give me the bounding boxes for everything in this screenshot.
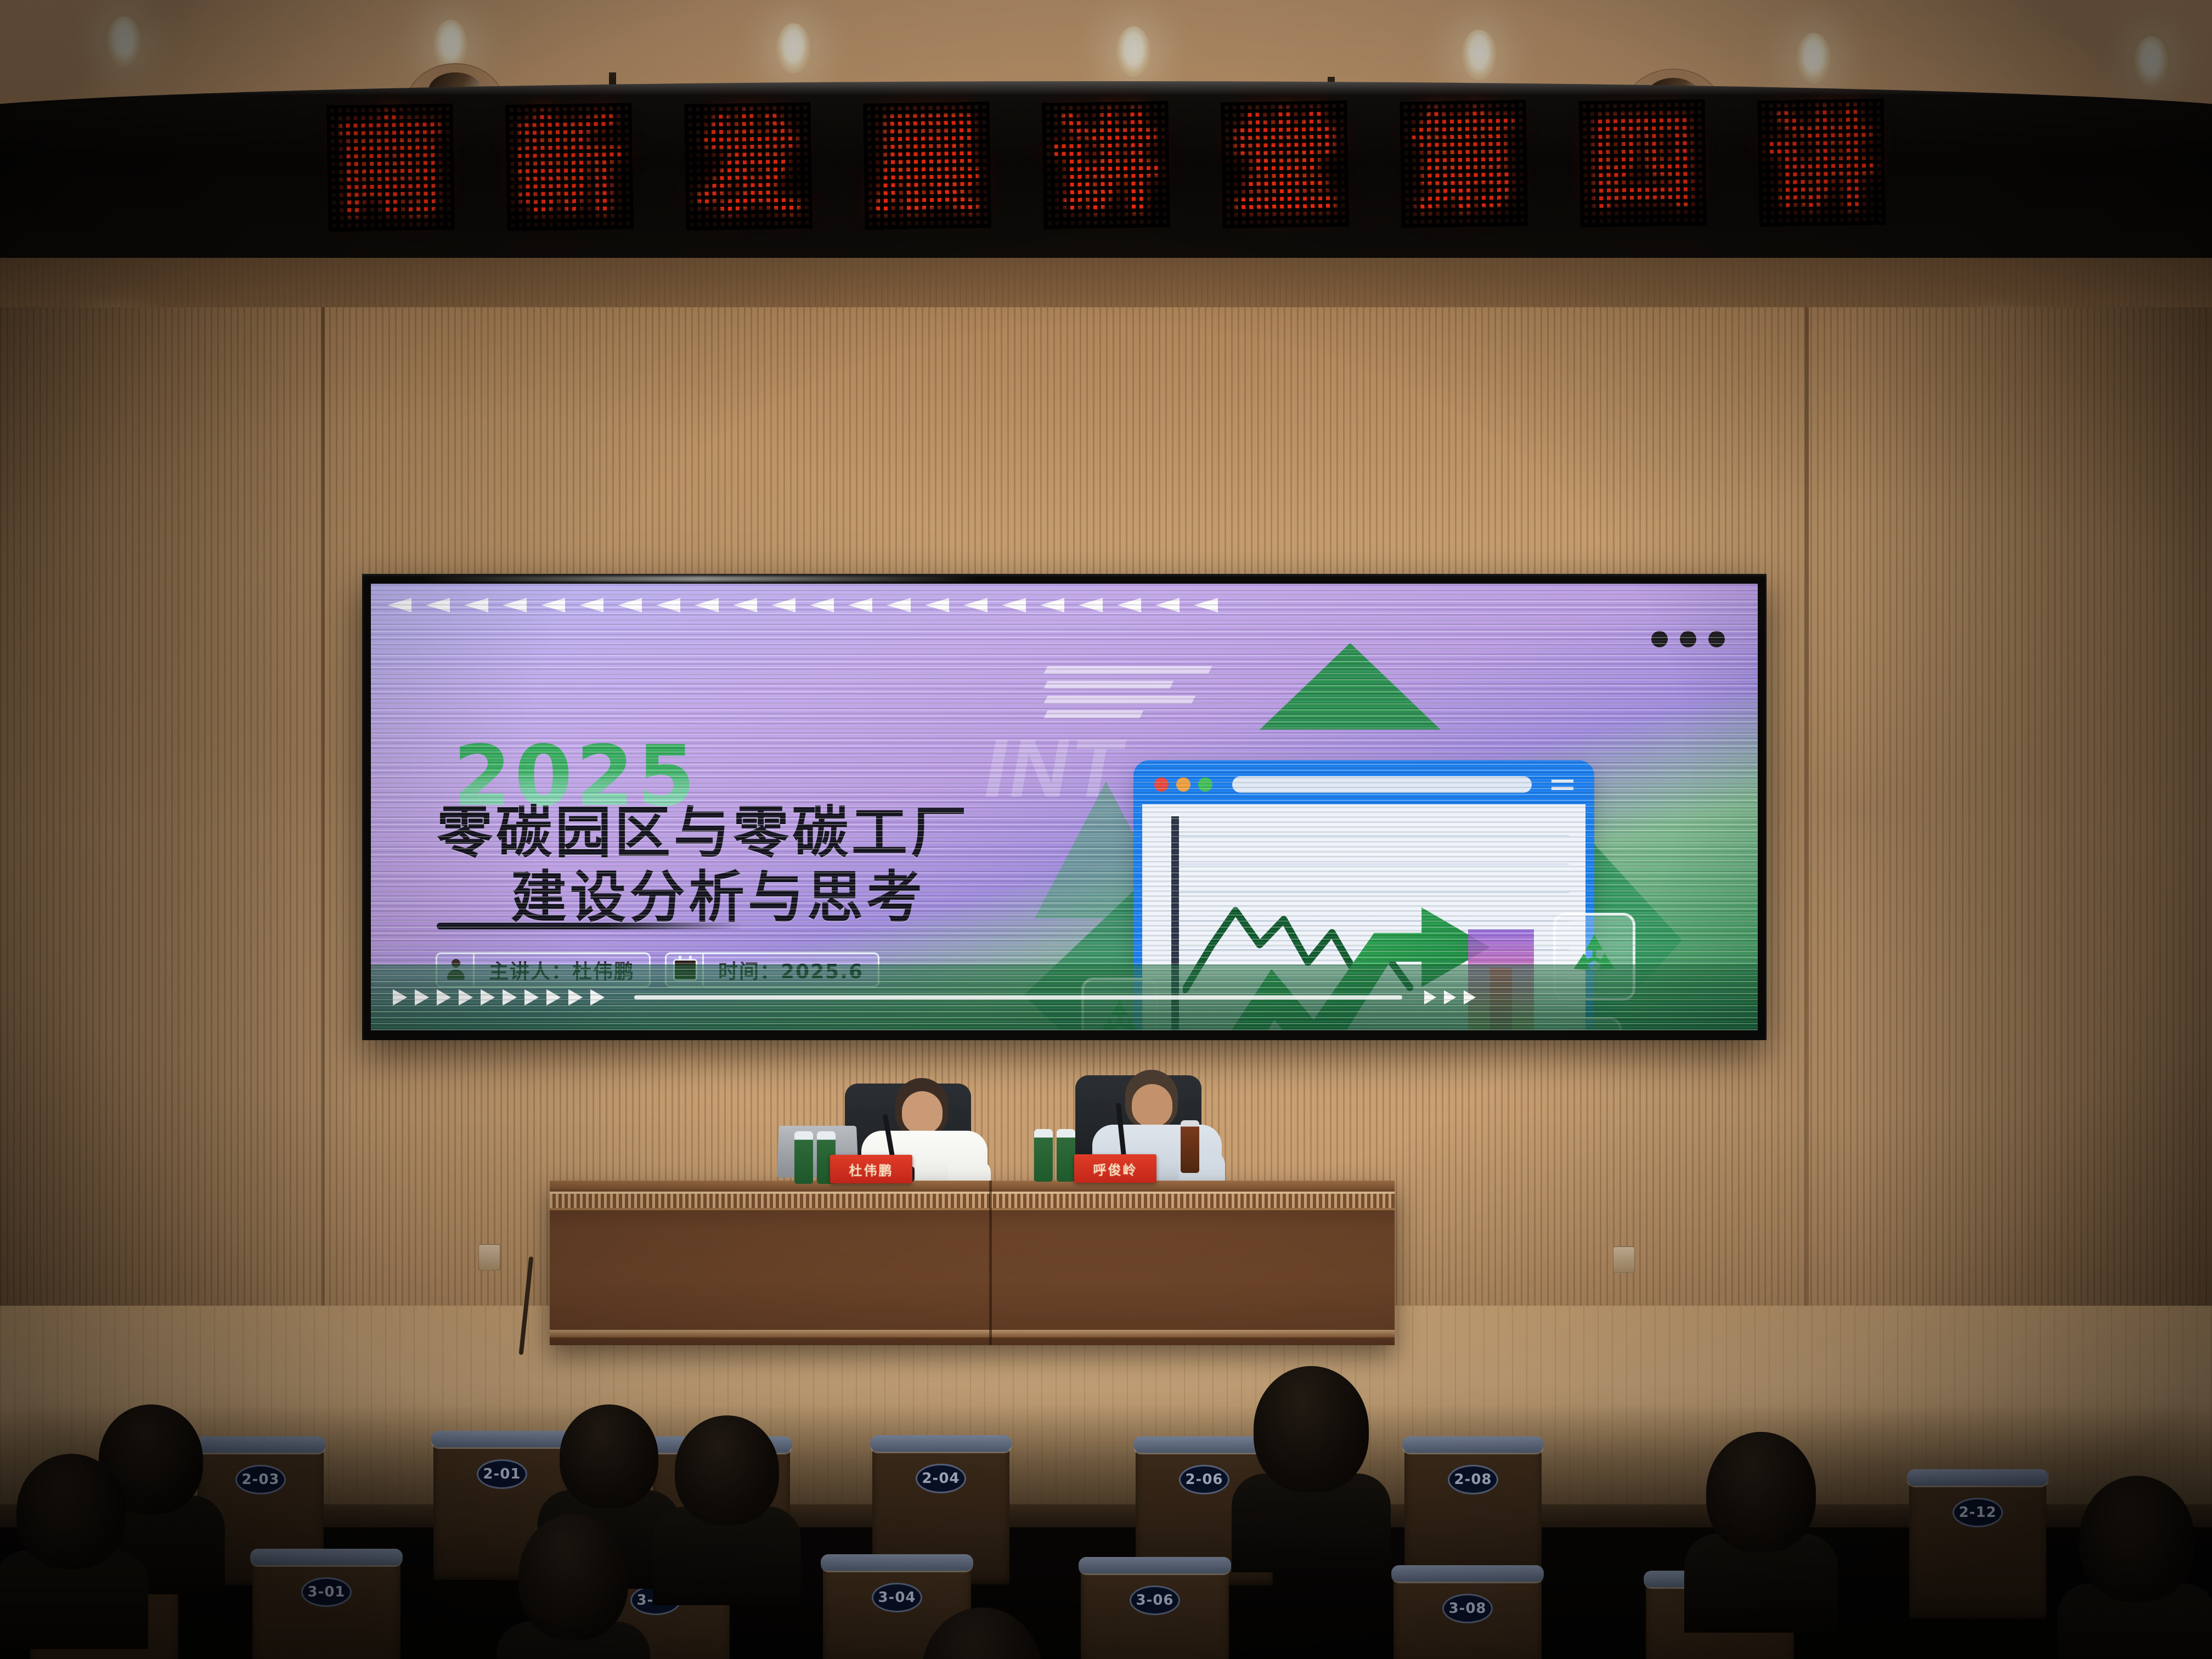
auditorium-photo: 南新发展讲堂第四讲 INT 2025 零碳园区与零碳工厂 建设分析与思考 [0, 0, 2212, 1659]
slide-bottom-strip [371, 964, 1758, 1030]
seat-headrest [1402, 1436, 1544, 1453]
led-char: 南 [326, 104, 455, 232]
seat-number-badge: 2-08 [1448, 1465, 1498, 1494]
auditorium-seat[interactable]: 3-08 [1393, 1577, 1542, 1659]
slide-progress-bar [634, 995, 1402, 1000]
seat-number-badge: 3-06 [1130, 1585, 1180, 1615]
conference-table [550, 1181, 1395, 1345]
seat-number-badge: 2-04 [916, 1464, 966, 1493]
arrow-left-icon [579, 598, 603, 612]
auditorium-seat[interactable]: 3-06 [1081, 1569, 1229, 1659]
arrow-left-icon [925, 598, 949, 612]
audience-head [1706, 1432, 1816, 1553]
seat-number-text: 3-04 [878, 1589, 916, 1606]
led-banner: 南新发展讲堂第四讲 [0, 81, 2212, 279]
seat-headrest [195, 1436, 326, 1453]
audience-head [16, 1454, 126, 1569]
arrow-left-icon [963, 598, 988, 612]
nameplate-right-text: 呼俊岭 [1093, 1159, 1138, 1178]
ceiling-downlight [1116, 26, 1150, 77]
seat-number-text: 2-01 [483, 1466, 521, 1482]
led-char-glyph: 四 [1578, 99, 1707, 228]
seat-number-text: 2-06 [1185, 1471, 1223, 1488]
led-char: 展 [863, 101, 991, 230]
arrow-right-icon [481, 989, 495, 1006]
arrow-right-icon [393, 989, 407, 1006]
browser-address-bar [1232, 776, 1532, 793]
led-char: 新 [505, 103, 634, 232]
led-char-glyph: 南 [326, 104, 455, 232]
seat-number-text: 2-03 [241, 1471, 279, 1488]
slide-top-arrow-strip [371, 591, 1758, 619]
arrow-right-icon [503, 989, 517, 1006]
arrow-left-icon [656, 598, 680, 612]
led-banner-text: 南新发展讲堂第四讲 [0, 81, 2212, 256]
arrow-left-icon [1155, 598, 1180, 612]
arrow-right-icon [590, 989, 605, 1006]
slide-canvas: INT 2025 零碳园区与零碳工厂 建设分析与思考 主讲人：杜伟鹏 [371, 584, 1758, 1030]
led-char-glyph: 讲 [1757, 99, 1886, 227]
wall-seam [1805, 307, 1809, 1399]
arrow-right-icon [524, 989, 539, 1006]
led-char-glyph: 第 [1400, 100, 1528, 228]
arrow-left-icon [1002, 598, 1026, 612]
arrow-left-icon [503, 598, 527, 612]
led-char-glyph: 堂 [1221, 100, 1349, 229]
arrow-left-icon [848, 598, 872, 612]
arrow-left-icon [810, 598, 834, 612]
arrow-right-icon [415, 989, 429, 1006]
seat-number-text: 3-01 [307, 1584, 345, 1600]
ceiling-downlight [1462, 30, 1496, 80]
water-bottle [794, 1131, 813, 1184]
arrow-left-icon [1194, 598, 1218, 612]
led-char-glyph: 展 [863, 101, 991, 230]
seat-number-text: 2-08 [1454, 1471, 1492, 1488]
arrow-right-icon [1424, 990, 1436, 1005]
slide-window-dots [1651, 631, 1725, 647]
seat-number-badge: 3-01 [301, 1577, 352, 1607]
arrow-right-icon [1464, 990, 1476, 1005]
auditorium-seat[interactable]: 3-01 [252, 1561, 400, 1659]
arrow-left-icon [1079, 598, 1103, 612]
audience-head [2079, 1476, 2194, 1602]
led-char: 发 [684, 102, 812, 230]
seat-number-badge: 2-01 [477, 1459, 527, 1489]
arrow-left-icon [541, 598, 565, 612]
led-char-glyph: 发 [684, 102, 812, 230]
seat-headrest [250, 1549, 403, 1565]
ceiling-downlight [433, 20, 467, 70]
arrow-left-icon [387, 598, 411, 612]
seat-number-text: 3-08 [1448, 1600, 1486, 1617]
ceiling-downlight [1797, 33, 1831, 83]
water-bottle [1057, 1129, 1075, 1182]
seat-headrest [1079, 1557, 1231, 1573]
seat-headrest [431, 1431, 573, 1447]
seat-number-badge: 2-12 [1953, 1498, 2003, 1527]
seat-headrest [821, 1554, 973, 1571]
arrow-left-icon [733, 598, 757, 612]
seat-number-badge: 2-06 [1179, 1465, 1229, 1494]
seat-number-text: 2-04 [922, 1470, 960, 1487]
window-dot-red [1154, 777, 1169, 792]
led-char: 第 [1400, 100, 1528, 228]
seat-number-badge: 3-04 [872, 1583, 922, 1612]
decor-bars [1046, 666, 1210, 725]
water-bottle [1034, 1129, 1053, 1182]
arrow-left-icon [695, 598, 719, 612]
arrow-left-icon [1040, 598, 1064, 612]
arrow-right-icon [1444, 990, 1456, 1005]
wall-outlet [478, 1244, 500, 1271]
arrow-left-icon [464, 598, 488, 612]
seat-number-text: 2-12 [1959, 1504, 1996, 1521]
arrow-left-icon [771, 598, 795, 612]
decor-triangle-top [1260, 643, 1441, 730]
audience-head [675, 1415, 779, 1525]
led-char-glyph: 讲 [1042, 101, 1170, 229]
arrow-left-icon [1117, 598, 1141, 612]
audience-head [1254, 1366, 1369, 1492]
nameplate-right: 呼俊岭 [1074, 1154, 1156, 1183]
slide-title-line2: 建设分析与思考 [511, 853, 926, 933]
audience-head [518, 1514, 628, 1640]
led-char: 讲 [1757, 99, 1886, 227]
arrow-right-icon [546, 989, 561, 1006]
wall-seam [321, 307, 325, 1399]
led-presentation-screen: INT 2025 零碳园区与零碳工厂 建设分析与思考 主讲人：杜伟鹏 [362, 574, 1767, 1040]
led-char: 堂 [1221, 100, 1349, 229]
nameplate-left-text: 杜伟鹏 [849, 1160, 894, 1179]
arrow-right-icon [459, 989, 473, 1006]
ceiling-downlight [776, 23, 810, 74]
arrow-right-icon [437, 989, 451, 1006]
seat-number-badge: 2-03 [235, 1465, 286, 1494]
arrow-left-icon [887, 598, 911, 612]
arrow-left-icon [618, 598, 642, 612]
window-dot-green [1198, 777, 1212, 792]
seat-headrest [1391, 1565, 1544, 1582]
audience-head [560, 1404, 658, 1509]
window-dot-amber [1176, 777, 1190, 792]
seat-number-badge: 3-08 [1442, 1594, 1493, 1623]
seat-headrest [870, 1435, 1012, 1452]
wall-outlet [1613, 1246, 1635, 1273]
arrow-right-icon [568, 989, 583, 1006]
seat-headrest [1907, 1469, 2049, 1486]
ceiling-downlight [107, 16, 141, 67]
ceiling-downlight [2134, 36, 2168, 87]
led-char-glyph: 新 [505, 103, 634, 232]
led-char: 讲 [1042, 101, 1170, 229]
seat-number-text: 3-06 [1136, 1592, 1173, 1609]
thermos [1181, 1120, 1199, 1173]
menu-icon [1551, 780, 1573, 790]
auditorium-seat[interactable]: 2-12 [1909, 1481, 2046, 1618]
led-char: 四 [1578, 99, 1707, 228]
slide-bg-watermark: INT [977, 721, 1133, 816]
nameplate-left: 杜伟鹏 [830, 1155, 912, 1183]
browser-titlebar [1142, 765, 1585, 804]
arrow-left-icon [426, 598, 450, 612]
